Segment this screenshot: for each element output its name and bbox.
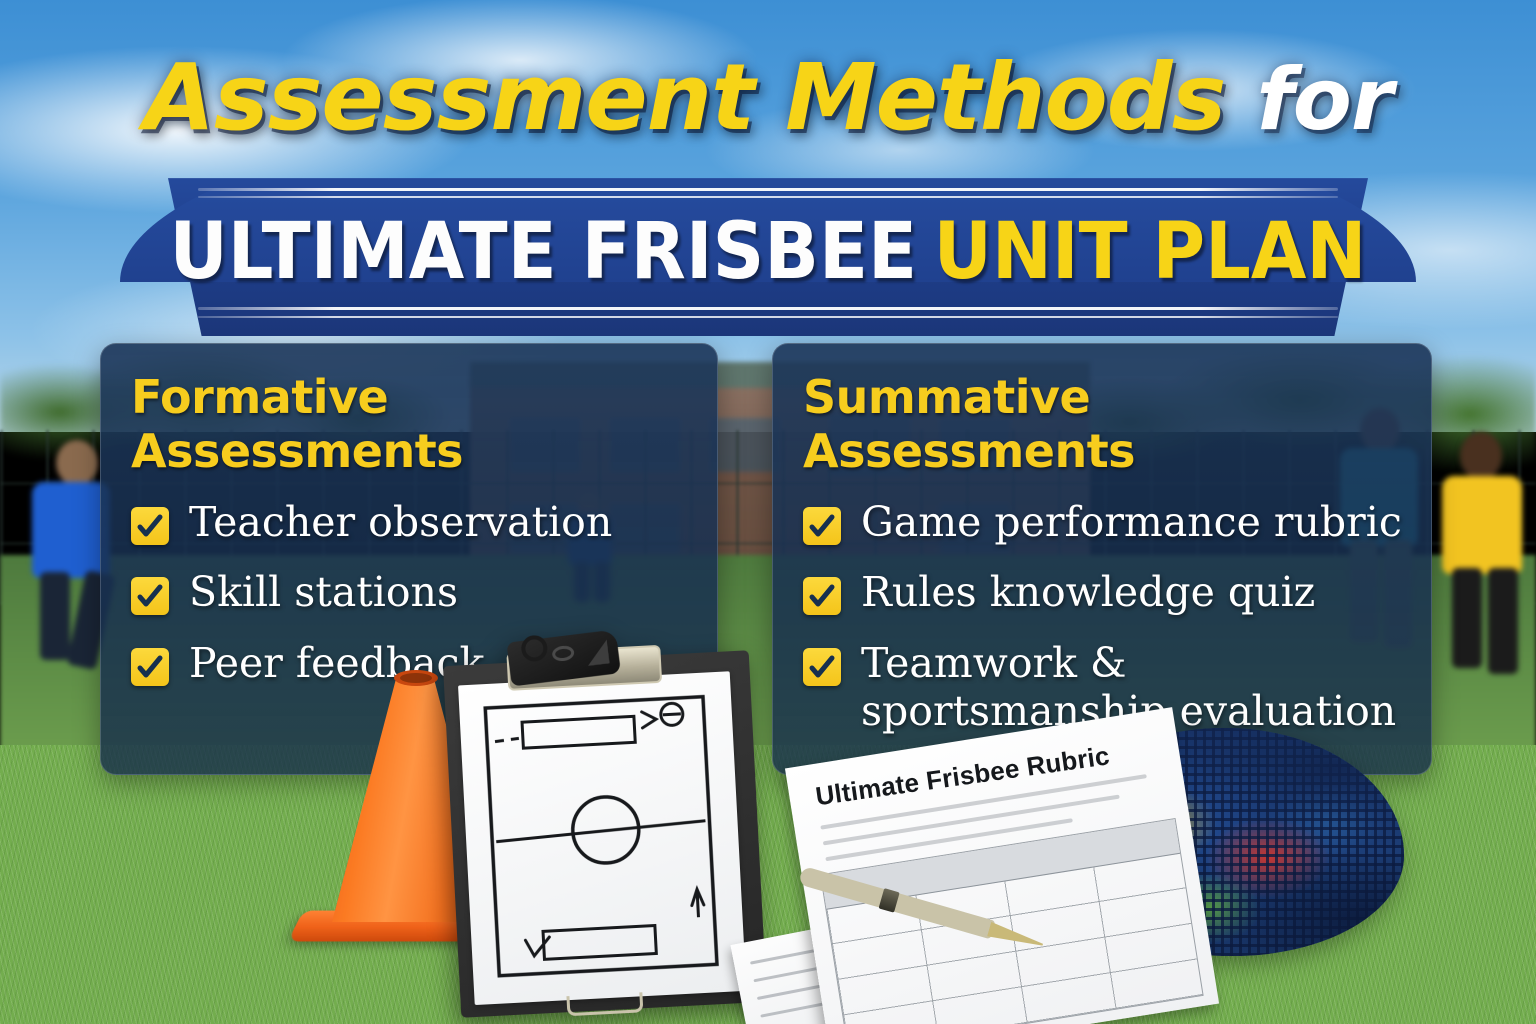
checkbox-checked-icon[interactable]	[131, 577, 169, 615]
list-item[interactable]: Rules knowledge quiz	[803, 568, 1405, 616]
banner-line-top-1	[198, 188, 1338, 191]
summative-assessments-panel: Summative Assessments Game performance r…	[772, 343, 1432, 775]
banner-line-bottom-2	[198, 316, 1338, 318]
checkbox-checked-icon[interactable]	[803, 507, 841, 545]
checkbox-checked-icon[interactable]	[803, 648, 841, 686]
checkbox-checked-icon[interactable]	[131, 507, 169, 545]
list-item-label: Peer feedback	[189, 639, 484, 687]
banner-line-top-2	[198, 196, 1338, 198]
list-item[interactable]: Peer feedback	[131, 639, 691, 687]
infographic-poster: Assessment Methods for ULTIMATE FRISBEE …	[0, 0, 1536, 1024]
checkbox-checked-icon[interactable]	[803, 577, 841, 615]
summative-items-list: Game performance rubric Rules knowledge …	[803, 498, 1405, 736]
list-item-label: Skill stations	[189, 568, 458, 616]
banner-white-text: ULTIMATE FRISBEE	[170, 207, 918, 297]
checkbox-checked-icon[interactable]	[131, 648, 169, 686]
list-item[interactable]: Game performance rubric	[803, 498, 1405, 546]
page-title: Assessment Methods for	[0, 44, 1536, 151]
list-item-label: Rules knowledge quiz	[861, 568, 1315, 616]
background-player-yellow	[1432, 432, 1536, 682]
banner-line-bottom-1	[198, 307, 1338, 310]
list-item[interactable]: Teacher observation	[131, 498, 691, 546]
title-main-text: Assessment Methods	[144, 44, 1226, 151]
list-item[interactable]: Teamwork & sportsmanship evaluation	[803, 639, 1405, 736]
list-item[interactable]: Skill stations	[131, 568, 691, 616]
summative-panel-heading: Summative Assessments	[803, 370, 1405, 478]
list-item-label: Teacher observation	[189, 498, 612, 546]
list-item-label: Teamwork & sportsmanship evaluation	[861, 639, 1405, 736]
title-banner: ULTIMATE FRISBEE UNIT PLAN	[168, 168, 1368, 336]
title-for-text: for	[1256, 50, 1392, 150]
list-item-label: Game performance rubric	[861, 498, 1402, 546]
banner-yellow-text: UNIT PLAN	[934, 207, 1367, 297]
formative-items-list: Teacher observation Skill stations Peer …	[131, 498, 691, 687]
formative-assessments-panel: Formative Assessments Teacher observatio…	[100, 343, 718, 775]
formative-panel-heading: Formative Assessments	[131, 370, 691, 478]
grass-foreground	[0, 745, 1536, 1024]
banner-text: ULTIMATE FRISBEE UNIT PLAN	[216, 202, 1320, 302]
